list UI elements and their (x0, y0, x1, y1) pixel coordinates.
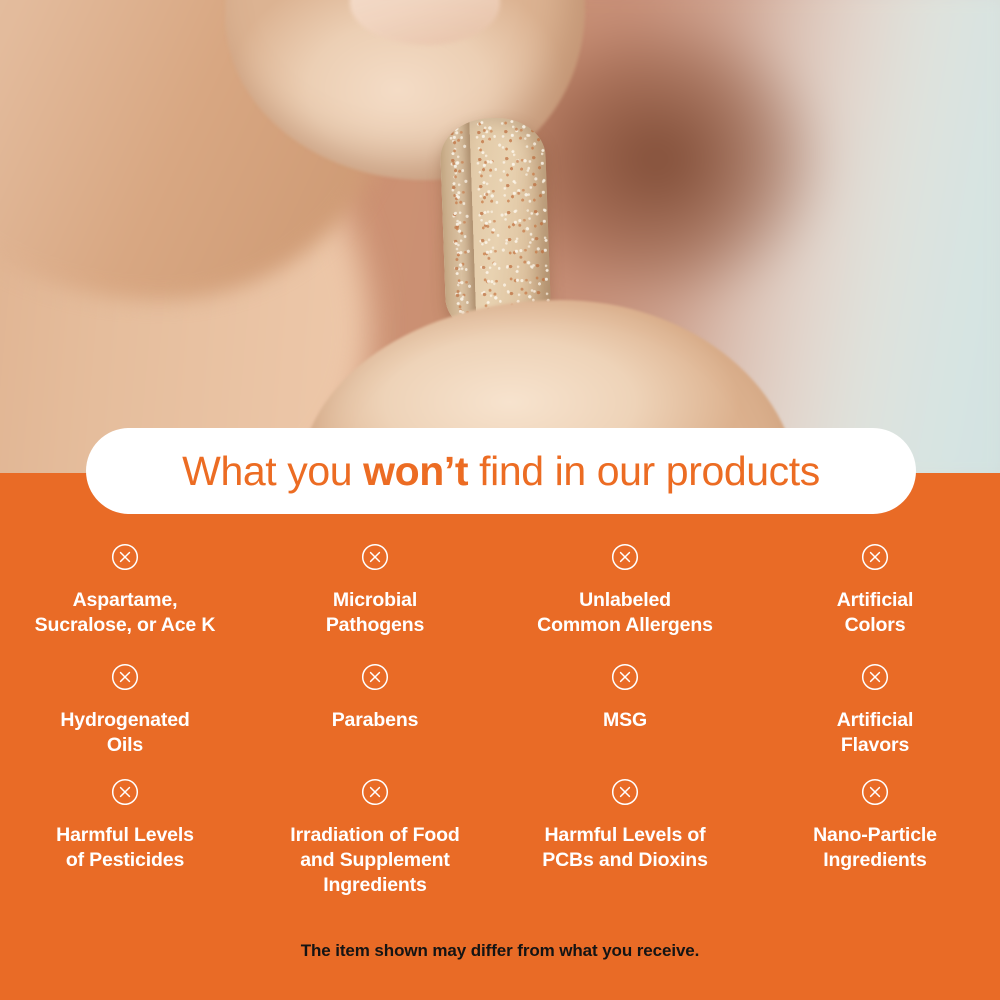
exclusion-label: Microbial Pathogens (326, 588, 424, 638)
exclusion-item: Microbial Pathogens (250, 543, 500, 663)
title-banner: What you won’t find in our products (86, 428, 916, 514)
exclusion-item: Aspartame, Sucralose, or Ace K (0, 543, 250, 663)
circle-x-icon (361, 663, 389, 691)
exclusion-label: Unlabeled Common Allergens (537, 588, 713, 638)
circle-x-icon (611, 663, 639, 691)
circle-x-icon (861, 778, 889, 806)
title-part-1: What you (182, 448, 363, 494)
exclusion-label: Harmful Levels of Pesticides (56, 823, 194, 873)
circle-x-icon (611, 543, 639, 571)
title-emphasis: won’t (363, 448, 468, 494)
circle-x-icon (361, 543, 389, 571)
page-title: What you won’t find in our products (182, 451, 820, 492)
title-part-2: find in our products (468, 448, 820, 494)
circle-x-icon (361, 778, 389, 806)
exclusion-label: MSG (603, 708, 647, 733)
exclusion-item: Irradiation of Food and Supplement Ingre… (250, 778, 500, 908)
circle-x-icon (861, 663, 889, 691)
exclusion-label: Hydrogenated Oils (60, 708, 189, 758)
exclusion-item: Harmful Levels of PCBs and Dioxins (500, 778, 750, 908)
exclusion-label: Artificial Flavors (837, 708, 914, 758)
exclusion-item: Unlabeled Common Allergens (500, 543, 750, 663)
exclusion-label: Nano-Particle Ingredients (813, 823, 937, 873)
exclusion-label: Parabens (332, 708, 419, 733)
exclusion-item: MSG (500, 663, 750, 778)
exclusion-label: Aspartame, Sucralose, or Ace K (35, 588, 216, 638)
circle-x-icon (111, 543, 139, 571)
exclusion-label: Irradiation of Food and Supplement Ingre… (290, 823, 459, 897)
circle-x-icon (111, 778, 139, 806)
exclusions-grid: Aspartame, Sucralose, or Ace K Microbial… (0, 543, 1000, 908)
circle-x-icon (611, 778, 639, 806)
circle-x-icon (111, 663, 139, 691)
circle-x-icon (861, 543, 889, 571)
exclusion-label: Harmful Levels of PCBs and Dioxins (542, 823, 708, 873)
exclusion-item: Artificial Flavors (750, 663, 1000, 778)
exclusion-item: Parabens (250, 663, 500, 778)
hero-photo (0, 0, 1000, 475)
promo-graphic: What you won’t find in our products Aspa… (0, 0, 1000, 1000)
disclaimer-footnote: The item shown may differ from what you … (0, 941, 1000, 961)
exclusion-item: Harmful Levels of Pesticides (0, 778, 250, 908)
exclusion-label: Artificial Colors (837, 588, 914, 638)
exclusion-item: Nano-Particle Ingredients (750, 778, 1000, 908)
exclusion-item: Artificial Colors (750, 543, 1000, 663)
exclusion-item: Hydrogenated Oils (0, 663, 250, 778)
